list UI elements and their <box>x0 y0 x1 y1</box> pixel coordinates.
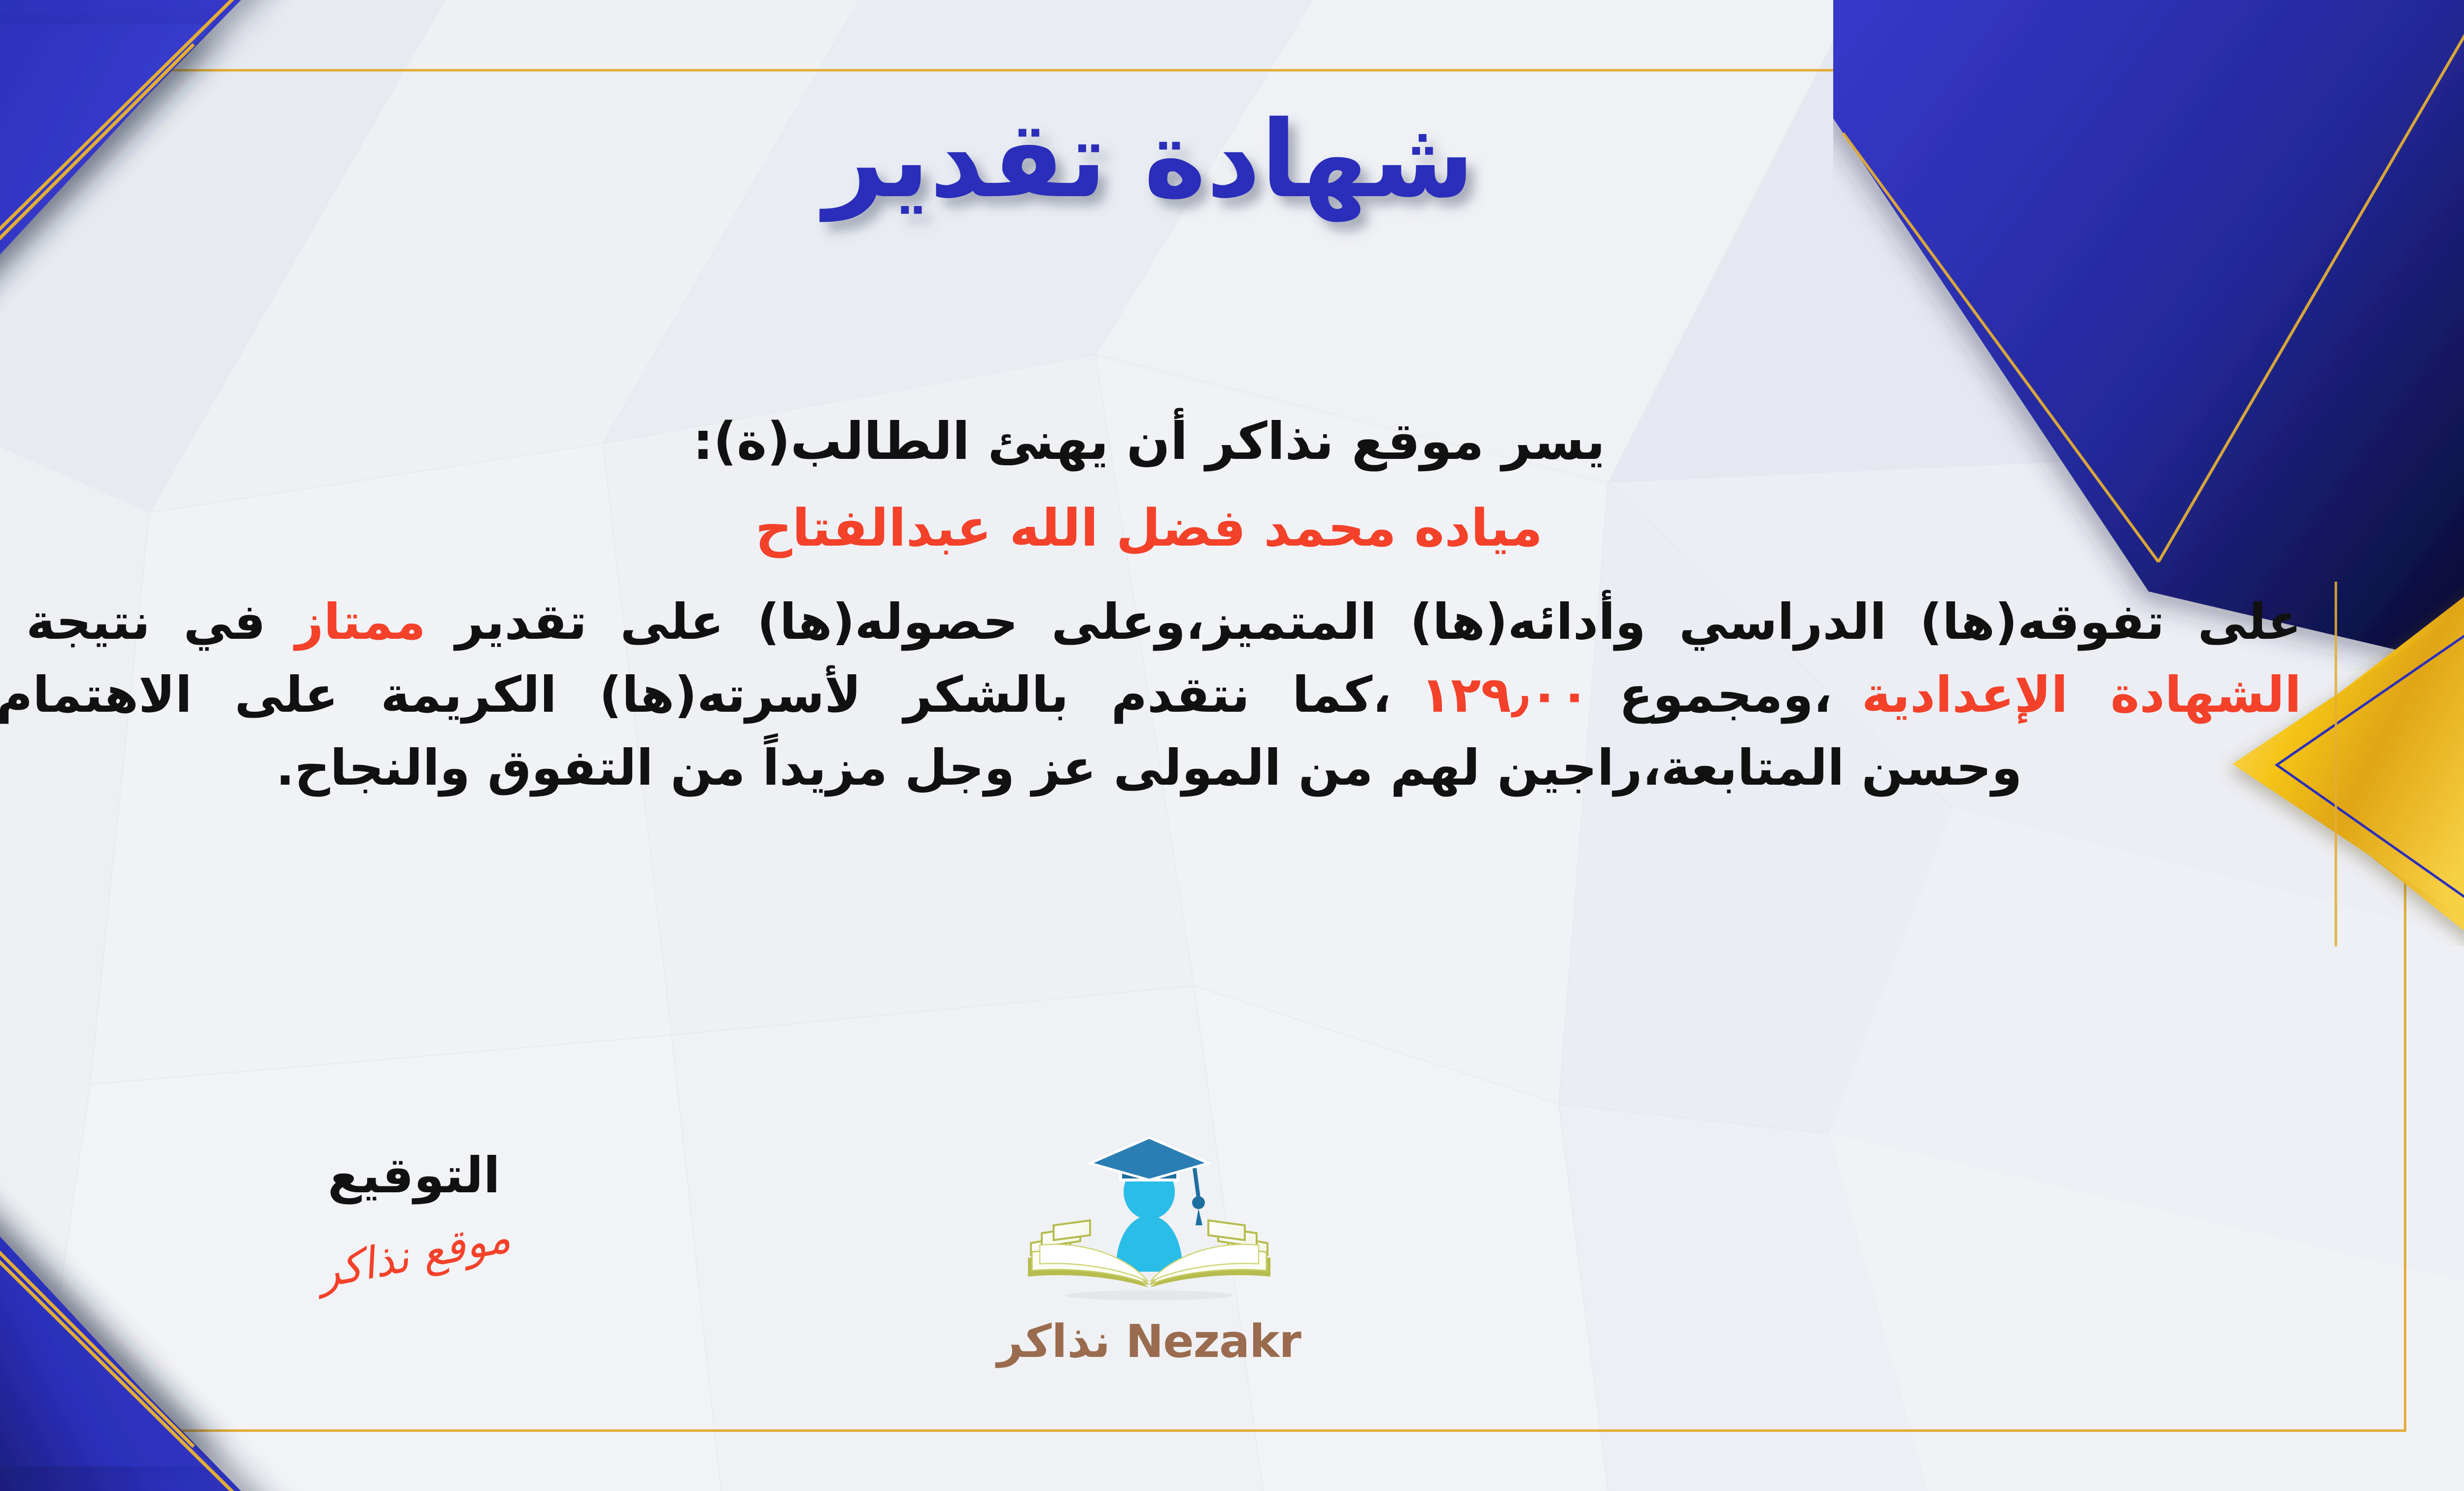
citation-segment-1: على تفوقه(ها) الدراسي وأدائه(ها) المتميز… <box>455 593 2301 651</box>
brand-logo-block: Nezakr نذاكر <box>947 1129 1351 1368</box>
signature-block: التوقيع موقع نذاكر <box>256 1148 572 1280</box>
signature-label: التوقيع <box>256 1148 572 1203</box>
grade-value: ممتاز <box>295 593 426 651</box>
intro-line: يسر موقع نذاكر أن يهنئ الطالب(ة): <box>0 409 2301 473</box>
graduation-book-icon <box>1011 1129 1287 1316</box>
citation-paragraph: على تفوقه(ها) الدراسي وأدائه(ها) المتميز… <box>0 586 2301 804</box>
certificate-body: يسر موقع نذاكر أن يهنئ الطالب(ة): مياده … <box>0 409 2301 804</box>
certificate-title: شهادة تقدير <box>755 79 1543 246</box>
student-name: مياده محمد فضل الله عبدالفتاح <box>0 496 2301 560</box>
citation-segment-2: في نتيجة <box>26 593 266 651</box>
certificate-canvas: شهادة تقدير يسر موقع نذاكر أن يهنئ الطال… <box>0 0 2464 1491</box>
total-score: ١٢٩٫٠٠ <box>1421 666 1590 724</box>
citation-segment-3: ،ومجموع <box>1619 666 1832 724</box>
exam-name: الشهادة الإعدادية <box>1862 666 2301 724</box>
certificate-title-wrap: شهادة تقدير <box>0 79 2464 248</box>
brand-logo-text: Nezakr نذاكر <box>947 1315 1351 1368</box>
certificate-title-text: شهادة تقدير <box>819 98 1474 222</box>
